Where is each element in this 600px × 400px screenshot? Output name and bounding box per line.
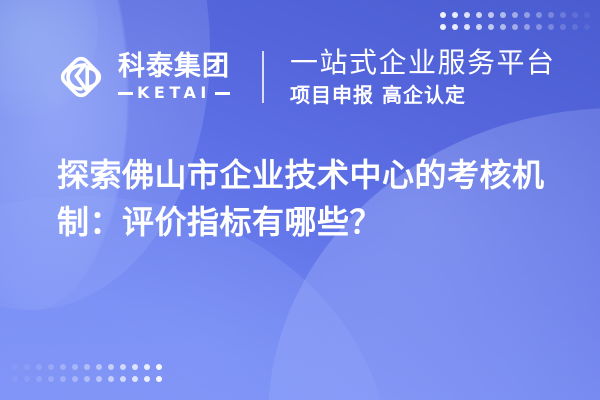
dot-grid-top-right — [440, 12, 590, 30]
dot — [512, 24, 518, 30]
dot — [36, 376, 42, 382]
dot — [548, 12, 554, 18]
promo-banner: 科泰集团 KETAI 一站式企业服务平台 项目申报 高企认定 探索佛山市企业技术… — [0, 0, 600, 400]
dot — [500, 24, 506, 30]
dot — [96, 376, 102, 382]
dot-row — [12, 376, 162, 382]
dot — [84, 376, 90, 382]
vertical-divider-icon — [262, 51, 264, 103]
dot — [24, 376, 30, 382]
dot — [96, 364, 102, 370]
dot — [536, 12, 542, 18]
ketai-diamond-kd-monogram-icon — [55, 51, 107, 103]
tagline-block: 一站式企业服务平台 项目申报 高企认定 — [290, 48, 556, 107]
dot — [12, 364, 18, 370]
dot — [132, 364, 138, 370]
dot — [536, 24, 542, 30]
dot-row — [440, 12, 590, 18]
dot — [584, 24, 590, 30]
dot — [548, 24, 554, 30]
dot — [464, 12, 470, 18]
dot — [72, 376, 78, 382]
logo-company-name-en: KETAI — [137, 85, 211, 101]
dot — [36, 364, 42, 370]
dash-rule-right-icon — [215, 92, 230, 95]
dot — [108, 364, 114, 370]
dash-rule-left-icon — [118, 92, 133, 95]
tagline-sub: 项目申报 高企认定 — [290, 85, 556, 107]
dot — [560, 12, 566, 18]
dot — [144, 364, 150, 370]
dot-row — [440, 24, 590, 30]
logo-en-row: KETAI — [118, 85, 230, 101]
dot — [572, 12, 578, 18]
dot — [524, 24, 530, 30]
page-title: 探索佛山市企业技术中心的考核机制：评价指标有哪些？ — [57, 152, 557, 246]
dot — [48, 376, 54, 382]
dot-row — [12, 364, 162, 370]
dot — [120, 376, 126, 382]
dot — [440, 12, 446, 18]
dot — [144, 376, 150, 382]
dot — [60, 364, 66, 370]
dot — [560, 24, 566, 30]
tagline-main: 一站式企业服务平台 — [290, 48, 556, 78]
dot — [488, 24, 494, 30]
dot — [72, 364, 78, 370]
banner-header: 科泰集团 KETAI 一站式企业服务平台 项目申报 高企认定 — [0, 38, 600, 116]
dot — [156, 376, 162, 382]
dot — [12, 376, 18, 382]
dot — [476, 12, 482, 18]
dot — [464, 24, 470, 30]
logo-wordmark: 科泰集团 KETAI — [118, 53, 230, 101]
logo-company-name-cn: 科泰集团 — [118, 53, 230, 80]
dot — [512, 12, 518, 18]
dot — [108, 376, 114, 382]
dot — [572, 24, 578, 30]
dot — [452, 24, 458, 30]
dot — [476, 24, 482, 30]
dot — [488, 12, 494, 18]
dot — [440, 24, 446, 30]
dot — [48, 364, 54, 370]
dot — [120, 364, 126, 370]
dot — [132, 376, 138, 382]
dot-grid-bottom-left — [12, 364, 162, 382]
dot — [452, 12, 458, 18]
dot — [524, 12, 530, 18]
dot — [584, 12, 590, 18]
dot — [24, 364, 30, 370]
dot — [60, 376, 66, 382]
brand-logo[interactable]: 科泰集团 KETAI — [55, 51, 230, 103]
dot — [84, 364, 90, 370]
dot — [156, 364, 162, 370]
dot — [500, 12, 506, 18]
